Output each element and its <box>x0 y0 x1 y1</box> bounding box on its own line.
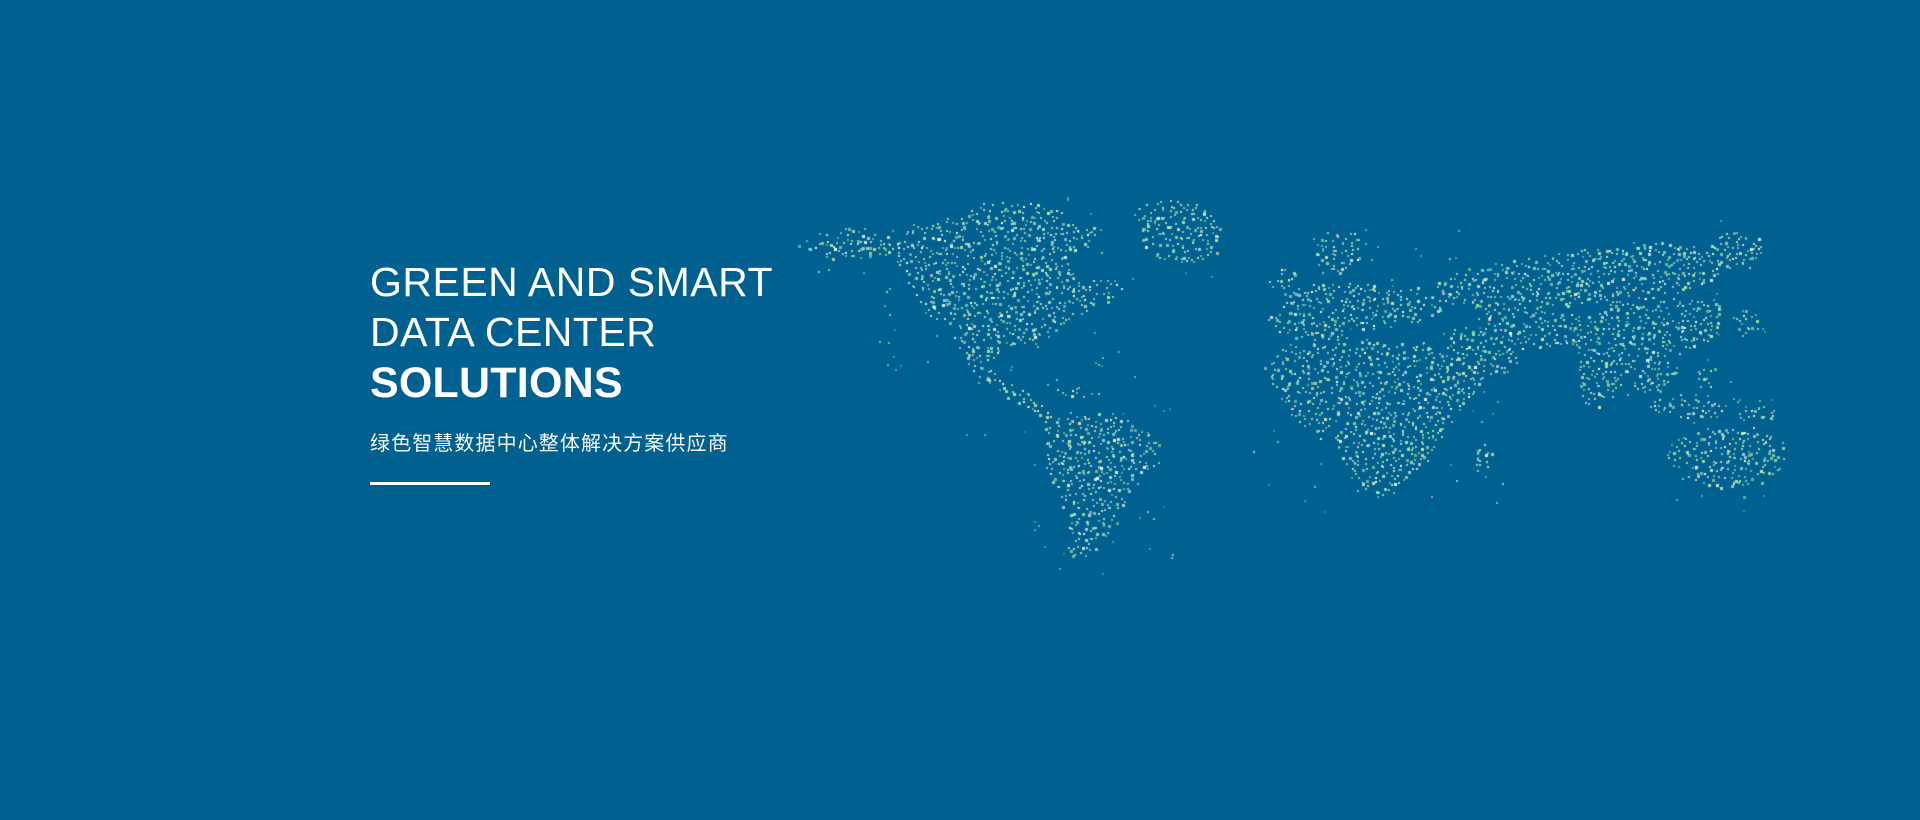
headline-line-1: GREEN AND SMART <box>370 262 1010 303</box>
headline-line-3: SOLUTIONS <box>370 362 1010 405</box>
hero-banner: GREEN AND SMART DATA CENTER SOLUTIONS 绿色… <box>0 0 1920 820</box>
headline-line-2: DATA CENTER <box>370 312 1010 353</box>
headline-underline-rule <box>370 482 490 485</box>
headline-block: GREEN AND SMART DATA CENTER SOLUTIONS 绿色… <box>370 262 1010 485</box>
headline-subtitle: 绿色智慧数据中心整体解决方案供应商 <box>370 427 1010 456</box>
